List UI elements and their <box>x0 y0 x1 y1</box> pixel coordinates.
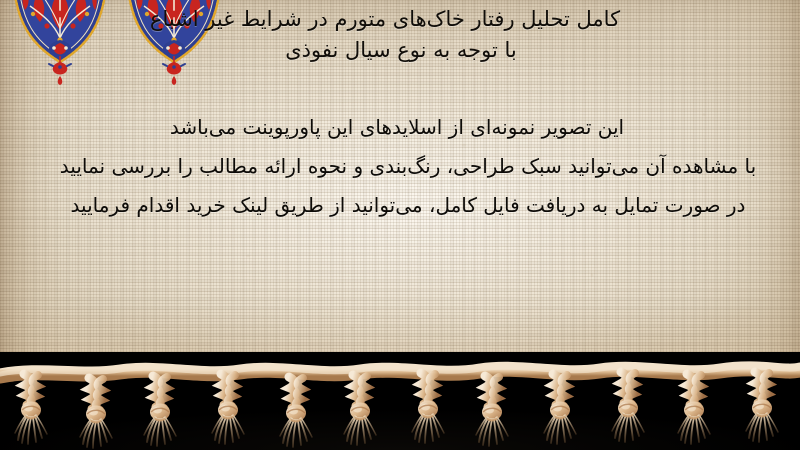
body-line-2: با مشاهده آن می‌توانید سبک طراحی، رنگ‌بن… <box>18 147 800 186</box>
carpet-fringe-tassels-icon <box>0 352 800 450</box>
slide-body-text: این تصویر نمونه‌ای از اسلایدهای این پاور… <box>18 108 800 225</box>
text-layer: کامل تحلیل رفتار خاک‌های متورم در شرایط … <box>0 0 800 382</box>
body-line-3: در صورت تمایل به دریافت فایل کامل، می‌تو… <box>18 186 800 225</box>
slide-canvas: کامل تحلیل رفتار خاک‌های متورم در شرایط … <box>0 0 800 450</box>
heading-line-1: کامل تحلیل رفتار خاک‌های متورم در شرایط … <box>10 4 800 35</box>
carpet-fringe <box>0 352 800 450</box>
slide-heading: کامل تحلیل رفتار خاک‌های متورم در شرایط … <box>10 4 800 66</box>
heading-line-2: با توجه به نوع سیال نفوذی <box>10 35 800 66</box>
body-line-1: این تصویر نمونه‌ای از اسلایدهای این پاور… <box>18 108 800 147</box>
